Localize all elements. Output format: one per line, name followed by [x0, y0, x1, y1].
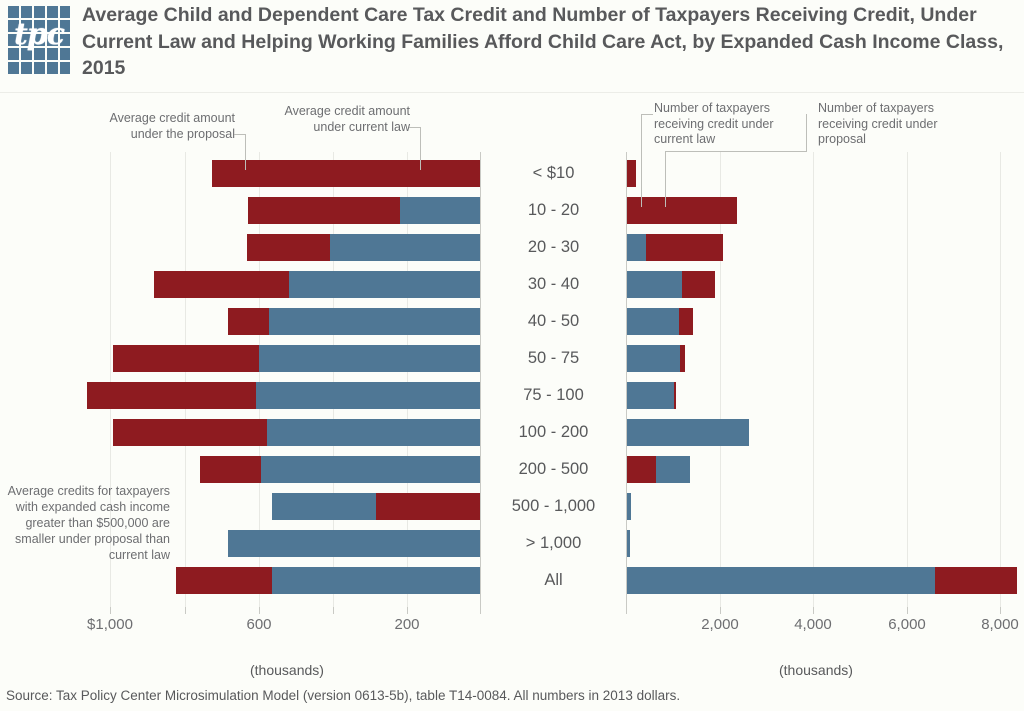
category-label: < $10: [481, 164, 626, 183]
bar-proposal: [680, 345, 685, 372]
bar-current-law: [256, 382, 480, 409]
bar-current-law: [627, 234, 646, 261]
right-axis-unit: (thousands): [779, 662, 853, 678]
left-tick-800: [185, 607, 186, 614]
bar-current-law: [627, 345, 680, 372]
bar-row: [626, 567, 1024, 594]
bar-proposal: [113, 345, 259, 372]
bar-row: [626, 345, 1024, 372]
tax-policy-center-logo: tpc: [8, 6, 70, 74]
bar-row: [85, 456, 481, 483]
logo-wordmark: tpc: [8, 18, 70, 52]
chart-plot-area: $1,000 600 200: [0, 92, 1024, 657]
bar-current-law: [261, 456, 480, 483]
left-tick-200: [407, 607, 408, 614]
bar-current-law: [259, 345, 480, 372]
bar-row: [626, 271, 1024, 298]
leader-left-proposal-v: [245, 134, 246, 170]
bar-current-law: [272, 567, 480, 594]
category-label: 30 - 40: [481, 275, 626, 294]
bar-row: [85, 271, 481, 298]
bar-row: [626, 493, 1024, 520]
bar-current-law: [269, 308, 480, 335]
bar-row: [626, 530, 1024, 557]
bar-row: [626, 234, 1024, 261]
bar-row: [626, 160, 1024, 187]
category-label: 500 - 1,000: [481, 497, 626, 516]
right-tick-6000: [907, 607, 908, 614]
category-label: 40 - 50: [481, 312, 626, 331]
annotation-left-proposal: Average credit amount under the proposal: [80, 111, 235, 142]
bar-proposal: [376, 493, 480, 520]
category-label: 50 - 75: [481, 349, 626, 368]
leader-left-current-h: [409, 127, 421, 128]
bar-current-law: [400, 197, 480, 224]
left-ticklabel-1000: $1,000: [50, 616, 170, 633]
annotation-right-proposal: Number of taxpayers receiving credit und…: [818, 101, 968, 148]
right-tick-8000: [1000, 607, 1001, 614]
annotation-note: Average credits for taxpayers with expan…: [2, 483, 170, 563]
bar-current-law: [267, 419, 480, 446]
left-tick-1000: [110, 607, 111, 614]
category-label: 75 - 100: [481, 386, 626, 405]
bar-proposal: [679, 308, 693, 335]
page-title: Average Child and Dependent Care Tax Cre…: [82, 2, 1012, 82]
bar-row: [85, 419, 481, 446]
bar-proposal: [228, 308, 269, 335]
bar-current-law: [228, 530, 480, 557]
leader-right-proposal-h2: [665, 151, 807, 152]
right-panel-taxpayer-count: 2,000 4,000 6,000 8,000: [626, 92, 1024, 657]
bar-current-law: [627, 271, 682, 298]
right-ticklabel-8000: 8,000: [940, 616, 1024, 633]
left-tick-600: [259, 607, 260, 614]
bar-current-law: [627, 308, 679, 335]
right-tick-4000: [813, 607, 814, 614]
category-label: 20 - 30: [481, 238, 626, 257]
bar-proposal: [176, 567, 272, 594]
right-tick-2000: [720, 607, 721, 614]
leader-left-proposal-h: [234, 134, 246, 135]
bar-proposal: [682, 271, 715, 298]
bar-row: [85, 382, 481, 409]
bar-row: [626, 197, 1024, 224]
bar-current-law: [627, 419, 749, 446]
left-tick-400: [333, 607, 334, 614]
bar-proposal: [247, 234, 330, 261]
leader-right-proposal-v2: [665, 151, 666, 207]
category-axis: < $10 10 - 20 20 - 30 30 - 40 40 - 50 50…: [481, 92, 626, 657]
bar-row: [85, 308, 481, 335]
bar-current-law: [627, 493, 631, 520]
bar-row: [626, 419, 1024, 446]
bar-row: [626, 382, 1024, 409]
category-label: > 1,000: [481, 534, 626, 553]
left-panel-average-credit: $1,000 600 200: [85, 92, 481, 657]
right-tick-0: [626, 607, 627, 614]
bar-proposal: [935, 567, 1017, 594]
bar-proposal: [627, 197, 737, 224]
annotation-left-current: Average credit amount under current law: [255, 104, 410, 135]
bar-row: [85, 345, 481, 372]
bar-current-law: [627, 567, 935, 594]
bar-current-law: [330, 234, 480, 261]
bar-proposal: [248, 197, 400, 224]
bar-current-law: [627, 530, 630, 557]
bar-proposal: [212, 160, 480, 187]
category-label: All: [481, 571, 626, 590]
bar-row: [626, 308, 1024, 335]
bar-row: [626, 456, 1024, 483]
category-label: 100 - 200: [481, 423, 626, 442]
bar-row: [85, 567, 481, 594]
bar-proposal: [200, 456, 261, 483]
leader-right-proposal-v: [806, 114, 807, 151]
bar-current-law: [627, 382, 674, 409]
bar-row: [85, 197, 481, 224]
leader-right-current-v: [641, 114, 642, 207]
bar-proposal: [627, 160, 636, 187]
bar-proposal: [113, 419, 267, 446]
chart-header: tpc Average Child and Dependent Care Tax…: [0, 0, 1024, 92]
bar-row: [85, 234, 481, 261]
source-note: Source: Tax Policy Center Microsimulatio…: [6, 688, 680, 703]
leader-right-current-h: [641, 114, 653, 115]
left-ticklabel-600: 600: [199, 616, 319, 633]
bar-current-law: [656, 456, 690, 483]
left-axis-unit: (thousands): [250, 662, 324, 678]
category-label: 10 - 20: [481, 201, 626, 220]
left-ticklabel-200: 200: [347, 616, 467, 633]
bar-row: [85, 160, 481, 187]
bar-proposal: [154, 271, 289, 298]
annotation-right-current: Number of taxpayers receiving credit und…: [654, 101, 799, 148]
bar-current-law: [289, 271, 480, 298]
leader-left-current-v: [420, 127, 421, 170]
bar-proposal: [87, 382, 256, 409]
bar-proposal: [674, 382, 676, 409]
bar-proposal: [646, 234, 723, 261]
category-label: 200 - 500: [481, 460, 626, 479]
bar-proposal: [627, 456, 656, 483]
